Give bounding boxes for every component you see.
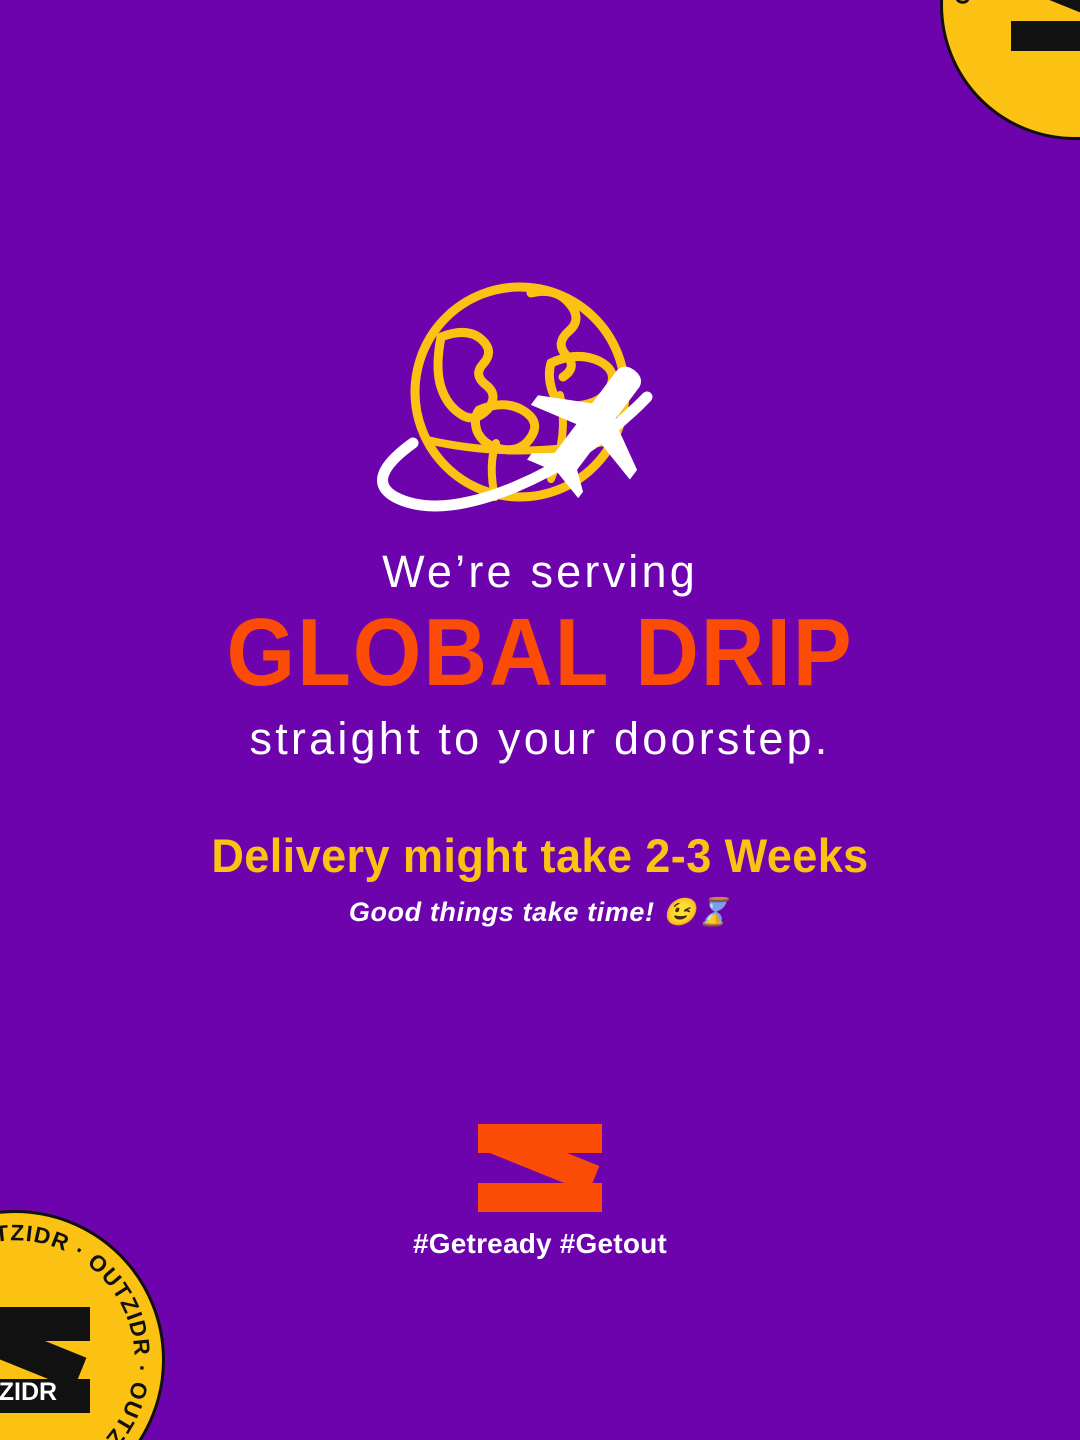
footer-block: #Getready #Getout [0,1124,1080,1260]
badge-wordmark: OUTZIDR [0,1380,57,1405]
poster-canvas: We’re serving GLOBAL DRIP straight to yo… [0,0,1080,1440]
delivery-subtext: Good things take time! 😉⌛ [0,896,1080,928]
outzidr-badge-bottom-left: OUTZIDR · OUTZIDR · OUTZIDR · OUTZIDR · … [0,1210,165,1440]
copy-block: We’re serving GLOBAL DRIP straight to yo… [0,545,1080,929]
outzidr-z-logo [478,1124,602,1212]
badge-core-bottom-left: OUTZIDR [0,1307,90,1413]
badge-z-mark-tr [1011,0,1080,51]
badge-z-bottom-bar-tr [1011,21,1080,51]
headline-global-drip: GLOBAL DRIP [43,604,1037,702]
badge-core-top-right [1011,0,1080,51]
z-logo-bottom-bar [478,1183,602,1212]
outzidr-badge-top-right: OUTZIDR · OUTZIDR · OUTZIDR · OUTZIDR · [940,0,1080,140]
globe-airplane-icon [355,265,715,515]
tagline-line-3: straight to your doorstep. [0,712,1080,766]
hashtags: #Getready #Getout [413,1228,667,1260]
tagline-line-1: We’re serving [0,545,1080,598]
delivery-notice: Delivery might take 2-3 Weeks [22,828,1059,884]
badge-z-mark-bl: OUTZIDR [0,1307,90,1413]
